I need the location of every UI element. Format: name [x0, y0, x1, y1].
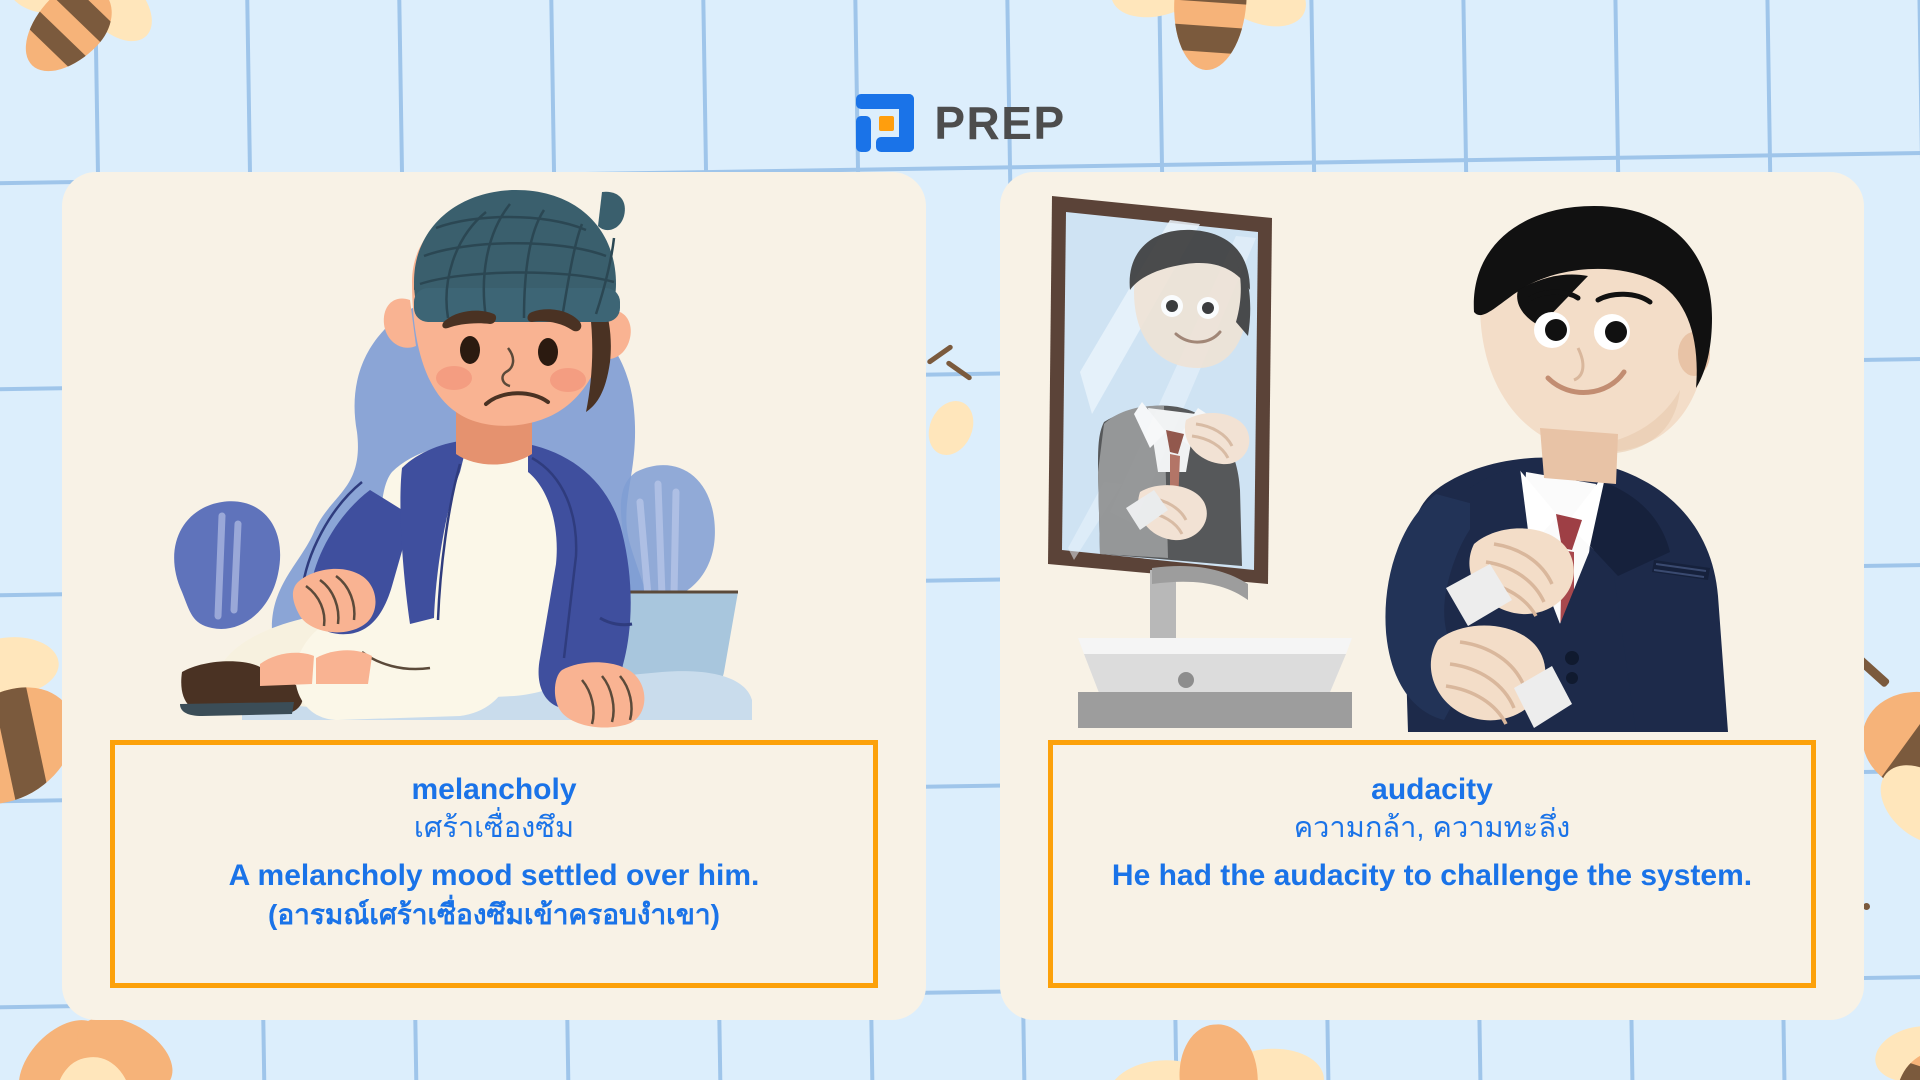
dot-decor-right	[1863, 903, 1870, 910]
thai-meaning: เศร้าเซื่องซึม	[133, 809, 855, 848]
example-gloss: (อารมณ์เศร้าเซื่องซึมเข้าครอบงำเขา)	[133, 896, 855, 935]
bee-body	[1170, 0, 1250, 72]
bee-icon-top-center	[1113, 0, 1304, 92]
brand-wordmark: PREP	[934, 100, 1065, 146]
bee-body	[1176, 1022, 1263, 1080]
flashcard-audacity[interactable]: audacity ความกล้า, ความทะลึ่ง He had the…	[1000, 172, 1864, 1020]
prep-logo-icon	[854, 92, 918, 154]
vocabulary-term: melancholy	[133, 771, 855, 809]
brand-logo: PREP	[0, 92, 1920, 154]
example-sentence: He had the audacity to challenge the sys…	[1071, 855, 1793, 896]
bee-stripe	[1170, 0, 1250, 6]
vocabulary-term: audacity	[1071, 771, 1793, 809]
bee-stripe	[1170, 23, 1250, 56]
example-sentence: A melancholy mood settled over him.	[133, 855, 855, 896]
word-definition-box: melancholy เศร้าเซื่องซึม A melancholy m…	[110, 740, 878, 988]
man-adjusting-tie-mirror-illustration	[1000, 172, 1864, 732]
vocabulary-flashcard-graphic: PREP	[0, 0, 1920, 1080]
word-definition-box: audacity ความกล้า, ความทะลึ่ง He had the…	[1048, 740, 1816, 988]
sad-person-sitting-illustration	[62, 172, 926, 732]
flashcard-melancholy[interactable]: melancholy เศร้าเซื่องซึม A melancholy m…	[62, 172, 926, 1020]
thai-meaning: ความกล้า, ความทะลึ่ง	[1071, 809, 1793, 848]
